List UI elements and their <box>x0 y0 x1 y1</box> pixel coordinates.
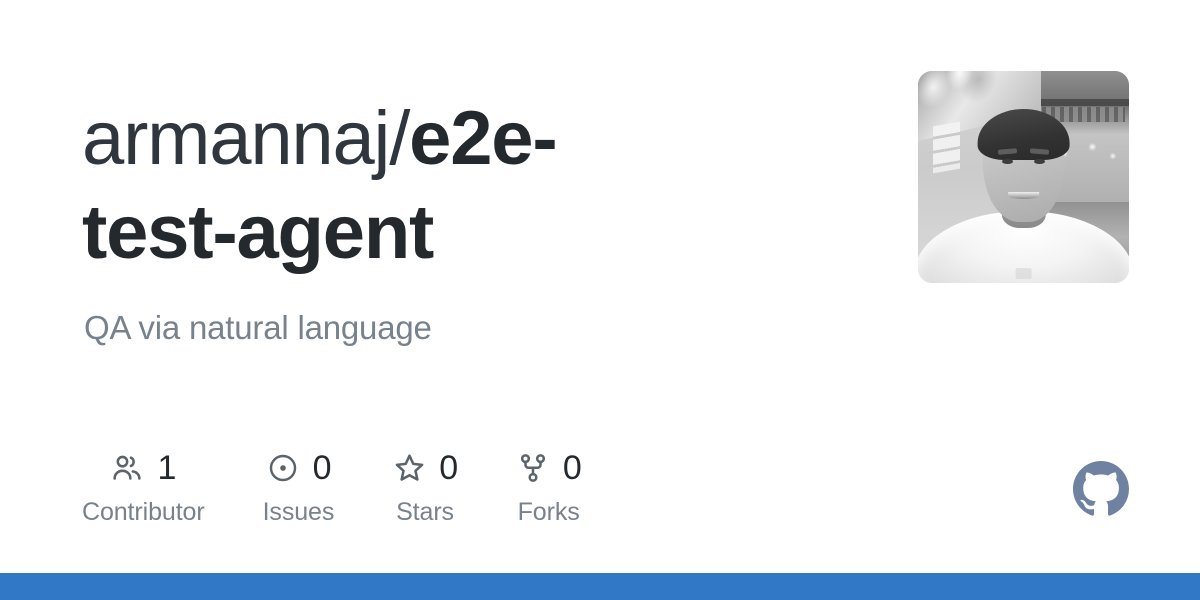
avatar-photo <box>918 71 1129 283</box>
github-mark-icon <box>1073 461 1129 517</box>
issue-opened-icon <box>266 451 300 485</box>
accent-bar <box>0 573 1200 600</box>
stat-stars-label: Stars <box>396 497 454 527</box>
stat-forks-label: Forks <box>518 497 580 527</box>
people-icon <box>110 451 144 485</box>
stat-contributors-count: 1 <box>157 451 176 485</box>
repository-info-column: armannaj/e2e-test-agent QA via natural l… <box>82 0 872 573</box>
repository-description: QA via natural language <box>84 306 432 350</box>
repository-name-separator: / <box>389 96 409 181</box>
stat-contributors-top: 1 <box>110 448 176 488</box>
repository-title: armannaj/e2e-test-agent <box>82 92 702 280</box>
stat-issues-count: 0 <box>313 451 332 485</box>
repository-stats: 1 Contributor 0 Issues <box>82 448 581 527</box>
avatar-photo-shirt-detail <box>1015 268 1032 279</box>
repo-forked-icon <box>516 451 550 485</box>
star-icon <box>392 451 426 485</box>
avatar-photo-labels <box>933 122 960 173</box>
stat-issues-top: 0 <box>266 448 332 488</box>
repository-social-preview-card: armannaj/e2e-test-agent QA via natural l… <box>0 0 1200 600</box>
stat-contributors-label: Contributor <box>82 497 205 527</box>
stat-forks[interactable]: 0 Forks <box>516 448 582 527</box>
stat-stars-top: 0 <box>392 448 458 488</box>
avatar-photo-mouth <box>1008 192 1040 199</box>
stat-forks-top: 0 <box>516 448 582 488</box>
stat-issues-label: Issues <box>263 497 335 527</box>
stat-contributors[interactable]: 1 Contributor <box>82 448 205 527</box>
stat-stars[interactable]: 0 Stars <box>392 448 458 527</box>
stat-issues[interactable]: 0 Issues <box>263 448 335 527</box>
avatar <box>918 71 1129 283</box>
stat-stars-count: 0 <box>439 451 458 485</box>
repository-owner[interactable]: armannaj <box>82 96 389 181</box>
stat-forks-count: 0 <box>563 451 582 485</box>
